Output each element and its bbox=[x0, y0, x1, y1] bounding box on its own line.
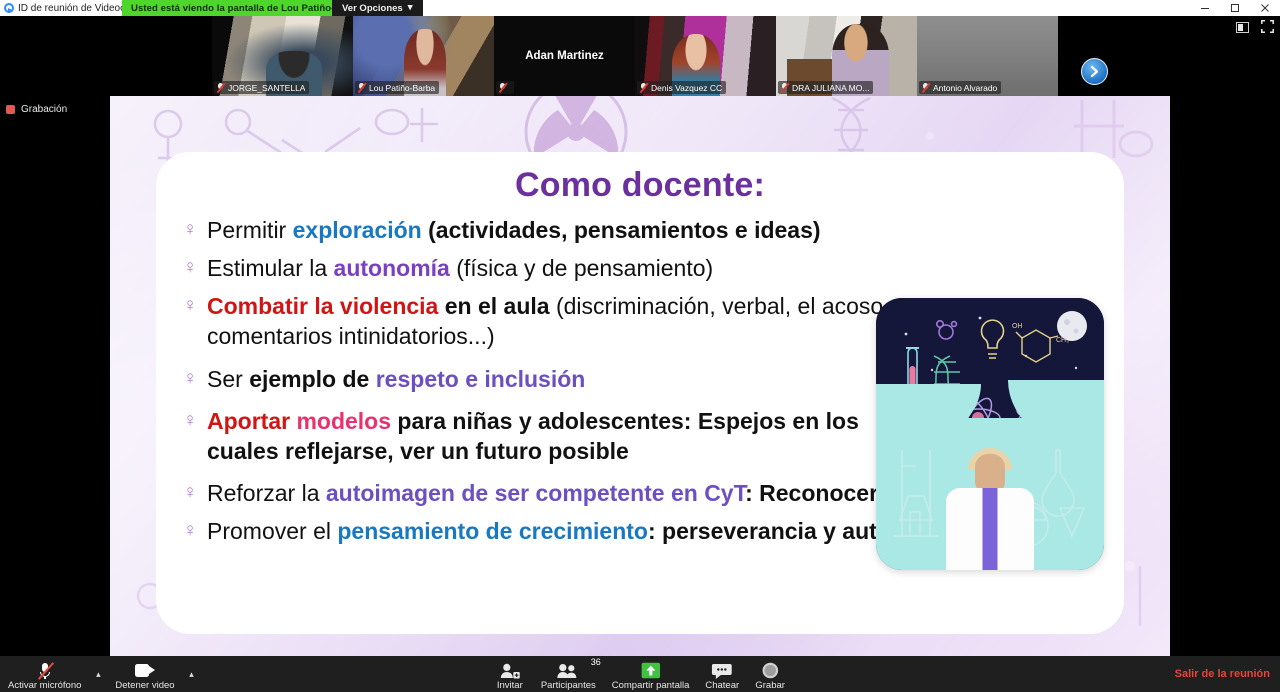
stop-video-button[interactable]: Detener video bbox=[107, 656, 182, 692]
science-girl-illustration: OH CH₃ bbox=[876, 298, 1104, 570]
chevron-right-icon[interactable] bbox=[1081, 58, 1108, 85]
people-icon bbox=[557, 661, 579, 680]
invite-button-label: Invitar bbox=[497, 680, 523, 692]
participant-name: DRA JULIANA MO... bbox=[792, 83, 869, 93]
participant-name-badge: DRA JULIANA MO... bbox=[778, 81, 873, 94]
mute-button[interactable]: Activar micrófono bbox=[0, 656, 89, 692]
microphone-muted-icon bbox=[921, 82, 930, 93]
record-circle-icon bbox=[762, 661, 779, 680]
venus-symbol-icon: ♀ bbox=[182, 411, 198, 430]
window-controls bbox=[1190, 0, 1280, 16]
scientist-figure bbox=[938, 454, 1042, 570]
participant-name-badge: Antonio Alvarado bbox=[919, 81, 1001, 94]
participant-name-badge: JORGE_SANTELLA bbox=[214, 81, 309, 94]
bullet-text: Permitir exploración (actividades, pensa… bbox=[207, 215, 821, 245]
slide-content-card: Como docente: ♀ Permitir exploración (ac… bbox=[156, 152, 1124, 634]
participants-count: 36 bbox=[591, 657, 601, 667]
microphone-muted-icon bbox=[36, 661, 54, 680]
chat-bubble-icon bbox=[712, 661, 732, 680]
microphone-muted-icon bbox=[357, 82, 366, 93]
close-icon[interactable] bbox=[1250, 0, 1280, 16]
view-options-button[interactable]: Ver Opciones ▾ bbox=[332, 0, 423, 16]
add-person-icon bbox=[500, 661, 520, 680]
list-item: ♀ Permitir exploración (actividades, pen… bbox=[182, 215, 1124, 245]
toolbar-center-group: Invitar 36 Participantes bbox=[487, 656, 793, 692]
bullet-text: Combatir la violencia en el aula (discri… bbox=[207, 291, 907, 351]
venus-symbol-icon: ♀ bbox=[182, 258, 198, 277]
participant-name-badge: Lou Patiño-Barba bbox=[355, 81, 439, 94]
video-tiles: JORGE_SANTELLA Lou Patiño-Barba Adan Mar… bbox=[212, 16, 1058, 96]
bullet-text: Ser ejemplo de respeto e inclusión bbox=[207, 364, 585, 394]
minimize-icon[interactable] bbox=[1190, 0, 1220, 16]
participant-name-badge: Denis Vazquez CC bbox=[637, 81, 726, 94]
share-screen-button[interactable]: Compartir pantalla bbox=[604, 656, 698, 692]
view-layout-icon[interactable] bbox=[1236, 20, 1249, 38]
record-button[interactable]: Grabar bbox=[747, 656, 793, 692]
meeting-toolbar: Activar micrófono ▴ Detener video ▴ bbox=[0, 656, 1280, 692]
lab-coat bbox=[946, 488, 1034, 570]
chat-button-label: Chatear bbox=[705, 680, 739, 692]
microphone-muted-icon bbox=[639, 82, 648, 93]
zoom-logo-icon bbox=[4, 3, 14, 13]
record-button-label: Grabar bbox=[755, 680, 785, 692]
venus-symbol-icon: ♀ bbox=[182, 369, 198, 388]
bullet-text: Aportar modelos para niñas y adolescente… bbox=[207, 406, 907, 466]
chevron-down-icon: ▾ bbox=[408, 3, 413, 13]
video-tile-3[interactable]: Denis Vazquez CC bbox=[635, 16, 776, 96]
share-screen-icon bbox=[641, 661, 661, 680]
video-tile-4[interactable]: DRA JULIANA MO... bbox=[776, 16, 917, 96]
participant-name: Antonio Alvarado bbox=[933, 83, 997, 93]
share-screen-button-label: Compartir pantalla bbox=[612, 680, 690, 692]
microphone-muted-icon bbox=[780, 82, 789, 93]
microphone-muted-icon bbox=[216, 82, 225, 93]
mute-button-label: Activar micrófono bbox=[8, 680, 81, 692]
slide-title: Como docente: bbox=[156, 166, 1124, 205]
participant-name-badge bbox=[496, 81, 514, 94]
video-tile-5[interactable]: Antonio Alvarado bbox=[917, 16, 1058, 96]
participant-name: Adan Martinez bbox=[494, 16, 635, 96]
video-filmstrip: JORGE_SANTELLA Lou Patiño-Barba Adan Mar… bbox=[0, 16, 1280, 96]
maximize-icon[interactable] bbox=[1220, 0, 1250, 16]
leave-meeting-button[interactable]: Salir de la reunión bbox=[1175, 668, 1270, 680]
head bbox=[975, 454, 1005, 492]
venus-symbol-icon: ♀ bbox=[182, 521, 198, 540]
bullet-text: Reforzar la autoimagen de ser competente… bbox=[207, 478, 955, 508]
bullet-text: Estimular la autonomía (física y de pens… bbox=[207, 253, 713, 283]
video-tile-1[interactable]: Lou Patiño-Barba bbox=[353, 16, 494, 96]
video-tile-2[interactable]: Adan Martinez bbox=[494, 16, 635, 96]
microphone-muted-icon bbox=[498, 82, 507, 93]
stop-video-button-label: Detener video bbox=[115, 680, 174, 692]
participants-button-label: Participantes bbox=[541, 680, 596, 692]
recording-label: Grabación bbox=[21, 104, 67, 115]
camera-icon bbox=[135, 661, 155, 680]
view-controls bbox=[1236, 20, 1274, 38]
invite-button[interactable]: Invitar bbox=[487, 656, 533, 692]
zoom-meeting-window: ID de reunión de Videoconfere Usted está… bbox=[0, 0, 1280, 692]
list-item: ♀ Estimular la autonomía (física y de pe… bbox=[182, 253, 1124, 283]
recording-indicator: Grabación bbox=[6, 104, 67, 115]
audio-options-chevron-up-icon[interactable]: ▴ bbox=[89, 656, 107, 692]
shared-screen-slide: Como docente: ♀ Permitir exploración (ac… bbox=[110, 96, 1170, 656]
recording-dot-icon bbox=[6, 105, 15, 114]
fullscreen-icon[interactable] bbox=[1261, 20, 1274, 38]
participant-name: JORGE_SANTELLA bbox=[228, 83, 305, 93]
video-tile-0[interactable]: JORGE_SANTELLA bbox=[212, 16, 353, 96]
venus-symbol-icon: ♀ bbox=[182, 296, 198, 315]
participant-name: Denis Vazquez CC bbox=[651, 83, 722, 93]
participant-name: Lou Patiño-Barba bbox=[369, 83, 435, 93]
screen-share-banner-text: Usted está viendo la pantalla de Lou Pat… bbox=[131, 3, 362, 14]
venus-symbol-icon: ♀ bbox=[182, 220, 198, 239]
video-options-chevron-up-icon[interactable]: ▴ bbox=[183, 656, 201, 692]
participants-button[interactable]: 36 Participantes bbox=[533, 656, 604, 692]
venus-symbol-icon: ♀ bbox=[182, 483, 198, 502]
view-options-label: Ver Opciones bbox=[342, 3, 403, 14]
chat-button[interactable]: Chatear bbox=[697, 656, 747, 692]
